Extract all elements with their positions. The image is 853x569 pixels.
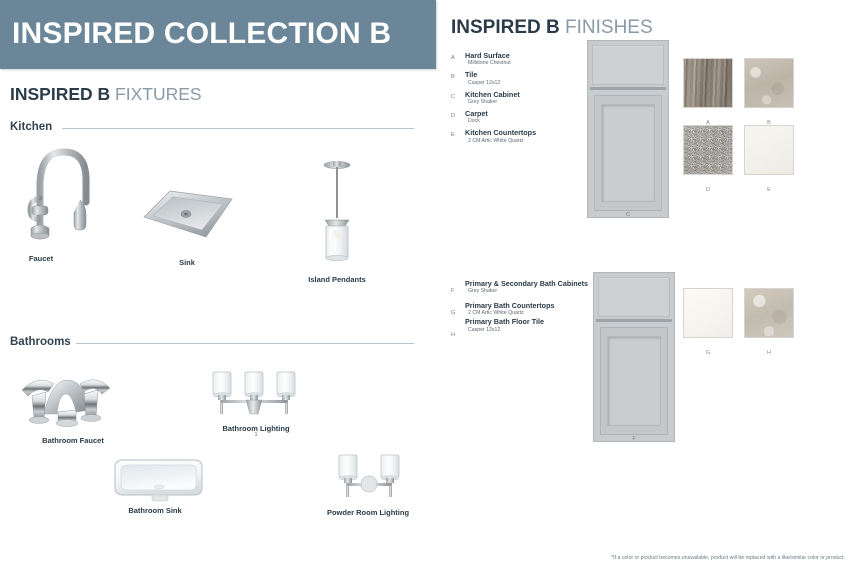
fixtures-heading: INSPIRED B FIXTURES xyxy=(10,84,202,105)
cabinet-drawer-front xyxy=(598,277,670,317)
fixture-label-bathroom-faucet: Bathroom Faucet xyxy=(42,436,104,445)
legend-name: Primary & Secondary Bath Cabinets xyxy=(465,280,591,288)
finishes-column: INSPIRED B FINISHES A Hard Surface Mills… xyxy=(437,0,853,569)
cabinet-door-panel xyxy=(607,336,662,426)
fixture-label-sink: Sink xyxy=(179,258,195,267)
cabinet-reveal-gap xyxy=(596,319,673,322)
legend-item: E Kitchen Countertops 2 CM Artic White Q… xyxy=(451,129,581,144)
swatch-letter: E xyxy=(767,187,771,193)
fixture-label-powder-room-lighting: Powder Room Lighting xyxy=(327,508,409,517)
legend-name: Kitchen Cabinet xyxy=(465,91,581,99)
countertop-swatch xyxy=(744,125,794,175)
legend-item: F Primary & Secondary Bath Cabinets Grey… xyxy=(451,280,591,295)
legend-name: Primary Bath Floor Tile xyxy=(465,318,591,326)
fixtures-heading-light: FIXTURES xyxy=(115,84,202,104)
fixture-footnote-bathroom-lighting: 1 xyxy=(255,432,258,438)
cabinet-drawer-front xyxy=(592,45,664,85)
bathroom-faucet-icon xyxy=(14,358,120,430)
swatch-letter: H xyxy=(767,350,771,356)
legend-desc: Dock xyxy=(465,118,581,124)
finishes-legend-bottom: F Primary & Secondary Bath Cabinets Grey… xyxy=(451,280,591,337)
legend-name: Primary Bath Countertops xyxy=(465,302,591,310)
legend-desc: Grey Shaker xyxy=(465,288,591,294)
legend-desc: Millstone Chestnut xyxy=(465,60,581,66)
cabinet-door-frame xyxy=(600,327,669,435)
bath-cabinet-door xyxy=(593,272,675,442)
cabinet-door-panel xyxy=(601,104,656,202)
legend-desc: 2 CM Artic White Quartz xyxy=(465,138,581,144)
fixture-label-island-pendants: Island Pendants xyxy=(308,275,366,284)
legend-name: Carpet xyxy=(465,110,581,118)
kitchen-cabinet-door xyxy=(587,40,669,218)
bathroom-sink-icon xyxy=(106,452,210,504)
kitchen-sink-icon xyxy=(140,185,236,245)
legend-key: E xyxy=(451,132,455,138)
fixture-label-faucet: Faucet xyxy=(29,254,53,263)
island-pendant-icon xyxy=(315,158,359,268)
kitchen-faucet-icon xyxy=(18,140,108,240)
cabinet-door-frame xyxy=(594,95,663,211)
legend-key: C xyxy=(451,94,455,100)
legend-item: B Tile Casper 12x12 xyxy=(451,71,581,86)
legend-name: Hard Surface xyxy=(465,52,581,60)
legend-name: Tile xyxy=(465,71,581,79)
fixtures-heading-strong: INSPIRED B xyxy=(10,84,110,104)
legend-key: F xyxy=(451,288,454,294)
cabinet-reveal-gap xyxy=(590,87,667,90)
legend-desc: 2 CM Artic White Quartz xyxy=(465,310,591,316)
group-heading-kitchen: Kitchen xyxy=(10,121,52,133)
fixture-label-bathroom-sink: Bathroom Sink xyxy=(128,506,181,515)
legend-item: H Primary Bath Floor Tile Casper 12x12 xyxy=(451,318,591,333)
legend-desc: Casper 12x12 xyxy=(465,80,581,86)
swatch-letter: D xyxy=(706,187,710,193)
finishes-heading: INSPIRED B FINISHES xyxy=(451,17,653,39)
legend-item: G Primary Bath Countertops 2 CM Artic Wh… xyxy=(451,302,591,317)
legend-key: D xyxy=(451,113,455,119)
legend-item: D Carpet Dock xyxy=(451,110,581,125)
legend-key: H xyxy=(451,332,455,338)
inspired-collection-b-board: INSPIRED COLLECTION B INSPIRED B FIXTURE… xyxy=(0,0,853,569)
finishes-legend-top: A Hard Surface Millstone Chestnut B Tile… xyxy=(451,52,581,149)
bath-countertop-swatch xyxy=(683,288,733,338)
door-letter: F xyxy=(632,436,635,442)
swatch-letter: G xyxy=(706,350,710,356)
fixtures-column: INSPIRED COLLECTION B INSPIRED B FIXTURE… xyxy=(0,0,437,569)
finishes-heading-light: FINISHES xyxy=(565,17,653,38)
finishes-heading-strong: INSPIRED B xyxy=(451,17,560,38)
legend-item: C Kitchen Cabinet Grey Shaker xyxy=(451,91,581,106)
bathrooms-divider xyxy=(76,343,414,344)
legend-key: B xyxy=(451,74,455,80)
collection-banner: INSPIRED COLLECTION B xyxy=(0,0,436,69)
legend-key: A xyxy=(451,55,455,61)
collection-title: INSPIRED COLLECTION B xyxy=(12,17,391,51)
legend-desc: Grey Shaker xyxy=(465,99,581,105)
powder-room-light-icon xyxy=(334,453,404,503)
tile-swatch xyxy=(744,58,794,108)
kitchen-divider xyxy=(62,128,414,129)
legend-name: Kitchen Countertops xyxy=(465,129,581,137)
hard-surface-swatch xyxy=(683,58,733,108)
group-heading-bathrooms: Bathrooms xyxy=(10,336,71,348)
bath-floor-tile-swatch xyxy=(744,288,794,338)
legend-item: A Hard Surface Millstone Chestnut xyxy=(451,52,581,67)
carpet-swatch xyxy=(683,125,733,175)
legend-key: G xyxy=(451,310,455,316)
legend-desc: Casper 12x12 xyxy=(465,327,591,333)
door-letter: C xyxy=(626,212,630,218)
disclaimer-text: *If a color or product becomes unavailab… xyxy=(611,555,845,561)
bathroom-vanity-light-icon xyxy=(204,370,304,420)
